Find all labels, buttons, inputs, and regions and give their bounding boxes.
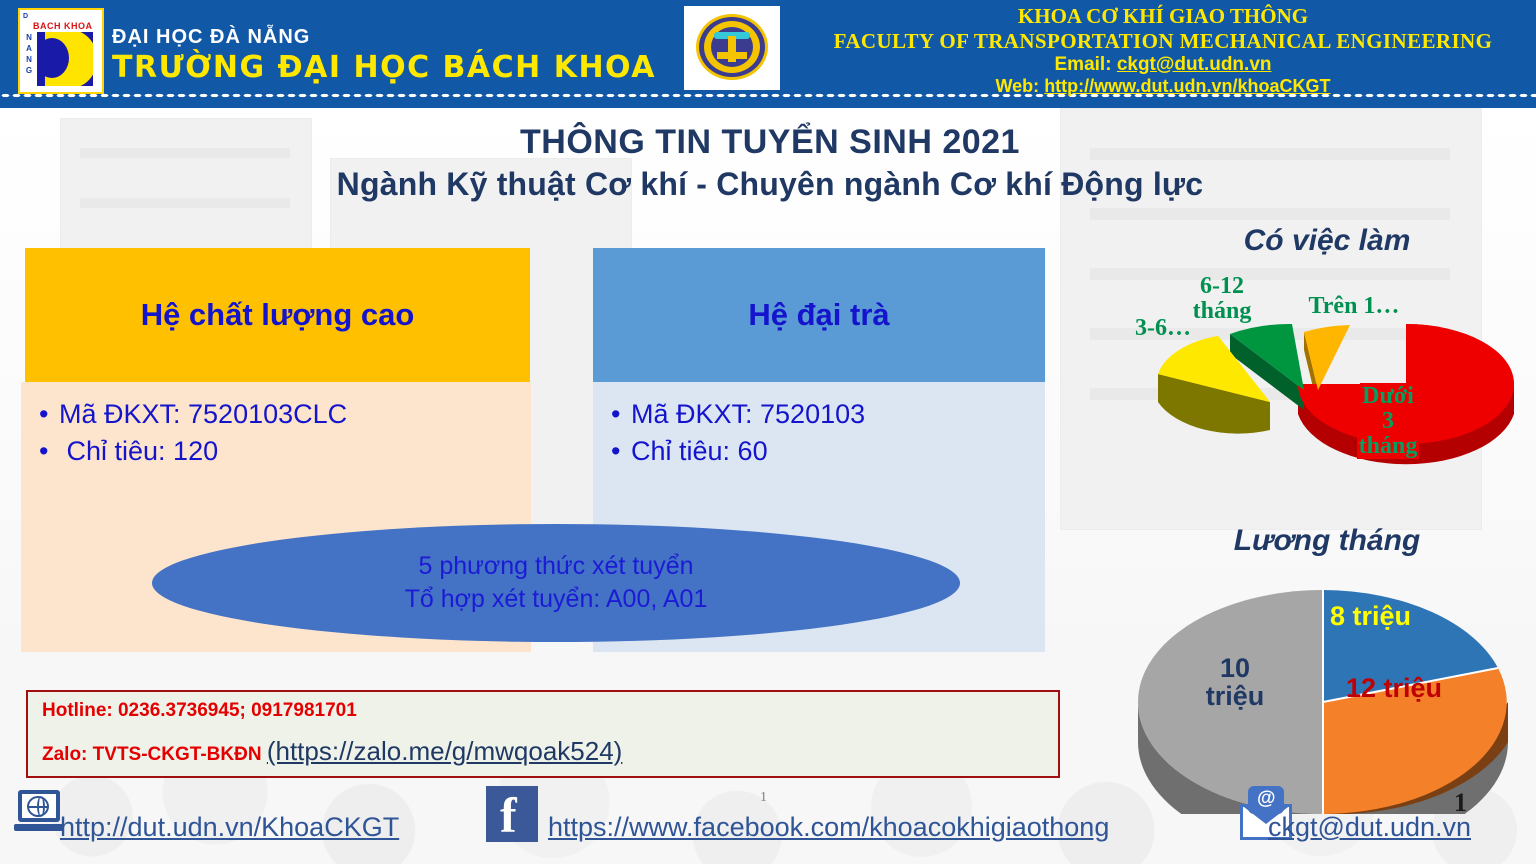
- program-card-dt-item-quota: Chỉ tiêu: 60: [631, 436, 768, 466]
- salary-label-10trieu: 10triệu: [1180, 654, 1290, 711]
- slide-number-center: 1: [760, 790, 767, 806]
- program-card-clc-heading: Hệ chất lượng cao: [25, 248, 530, 382]
- university-name-line1: ĐẠI HỌC ĐÀ NẴNG: [112, 26, 310, 49]
- header-web-value[interactable]: http://www.dut.udn.vn/khoaCKGT: [1044, 76, 1330, 96]
- at-sign-icon: @: [1257, 788, 1276, 810]
- employment-pie-chart: Có việc làm 6-12 tháng 3-6… Trên 1… Dưới…: [1118, 224, 1536, 514]
- website-icon: [14, 790, 66, 836]
- bullet-icon: •: [611, 396, 631, 433]
- page-title: THÔNG TIN TUYỂN SINH 2021 Ngành Kỹ thuật…: [150, 122, 1390, 204]
- logo-danang-text: NANG: [24, 32, 34, 76]
- salary-label-8trieu: 8 triệu: [1330, 602, 1450, 630]
- logo-letter-d: D: [23, 12, 28, 21]
- zalo-link[interactable]: (https://zalo.me/g/mwqoak524): [267, 736, 623, 766]
- monitor-base: [14, 824, 64, 831]
- list-item: •Mã ĐKXT: 7520103: [611, 396, 1027, 433]
- header-email-row: Email: ckgt@dut.udn.vn: [790, 54, 1536, 76]
- bullet-icon: •: [39, 396, 59, 433]
- list-item: •Mã ĐKXT: 7520103CLC: [39, 396, 513, 433]
- admission-methods-line2: Tổ hợp xét tuyển: A00, A01: [405, 583, 708, 616]
- bullet-icon: •: [611, 433, 631, 470]
- university-name-line2: TRƯỜNG ĐẠI HỌC BÁCH KHOA: [112, 50, 656, 85]
- logo-bachkhoa-text: BACH KHOA: [33, 21, 93, 31]
- program-card-clc-item-code: Mã ĐKXT: 7520103CLC: [59, 399, 347, 429]
- employment-label-duoi3thang: Dưới 3 tháng: [1338, 384, 1438, 460]
- employment-chart-svg: [1118, 224, 1536, 514]
- faculty-header-text: KHOA CƠ KHÍ GIAO THÔNG FACULTY OF TRANSP…: [790, 4, 1536, 97]
- globe-icon: [27, 796, 49, 817]
- program-card-dt-item-code: Mã ĐKXT: 7520103: [631, 399, 865, 429]
- faculty-logo-icon: [684, 6, 780, 90]
- salary-label-12trieu: 12 triệu: [1346, 674, 1506, 702]
- page-title-line1: THÔNG TIN TUYỂN SINH 2021: [150, 122, 1390, 162]
- zalo-label: Zalo: TVTS-CKGT-BKĐN: [42, 744, 262, 765]
- program-card-clc-item-quota: Chỉ tiêu: 120: [59, 436, 218, 466]
- page-title-line2: Ngành Kỹ thuật Cơ khí - Chuyên ngành Cơ …: [150, 166, 1390, 204]
- slide-number-right: 1: [1454, 788, 1467, 818]
- program-card-dt-heading: Hệ đại trà: [593, 248, 1045, 382]
- logo-square-mark: [37, 32, 93, 86]
- slice-duoi3thang-top2: [1406, 324, 1514, 384]
- list-item: • Chỉ tiêu: 120: [39, 433, 513, 470]
- employment-label-36thang: 3-6…: [1115, 316, 1211, 341]
- watermark-window: [1090, 208, 1450, 220]
- faculty-name-en: FACULTY OF TRANSPORTATION MECHANICAL ENG…: [790, 29, 1536, 54]
- bullet-icon: •: [39, 433, 59, 470]
- university-logo-icon: D BACH KHOA NANG: [18, 8, 104, 94]
- admission-methods-ellipse: 5 phương thức xét tuyển Tổ hợp xét tuyển…: [152, 524, 960, 642]
- header-email-label: Email:: [1055, 54, 1112, 75]
- header-email-value[interactable]: ckgt@dut.udn.vn: [1117, 54, 1272, 75]
- employment-label-tren1nam: Trên 1…: [1284, 294, 1424, 319]
- admission-methods-line1: 5 phương thức xét tuyển: [418, 550, 693, 583]
- header-web-label: Web:: [996, 76, 1040, 96]
- faculty-name-vi: KHOA CƠ KHÍ GIAO THÔNG: [790, 4, 1536, 29]
- facebook-icon: f: [486, 786, 538, 842]
- contact-info-box: Hotline: 0236.3736945; 0917981701 Zalo: …: [26, 690, 1060, 778]
- salary-pie-chart: Lương tháng 8 triệu 12 triệu 10triệu: [1118, 524, 1536, 814]
- footer-facebook-link[interactable]: https://www.facebook.com/khoacokhigiaoth…: [548, 812, 1109, 843]
- facebook-f-glyph: f: [500, 790, 517, 840]
- faculty-logo-bar-bottom: [717, 52, 747, 59]
- slice-tren1-top: [1304, 325, 1350, 390]
- hotline-text: Hotline: 0236.3736945; 0917981701: [42, 700, 1044, 722]
- footer-website-link[interactable]: http://dut.udn.vn/KhoaCKGT: [60, 812, 399, 843]
- header-web-row: Web: http://www.dut.udn.vn/khoaCKGT: [790, 76, 1536, 97]
- zalo-row: Zalo: TVTS-CKGT-BKĐN (https://zalo.me/g/…: [42, 736, 1044, 767]
- footer-email-link[interactable]: ckgt@dut.udn.vn: [1268, 812, 1471, 843]
- list-item: •Chỉ tiêu: 60: [611, 433, 1027, 470]
